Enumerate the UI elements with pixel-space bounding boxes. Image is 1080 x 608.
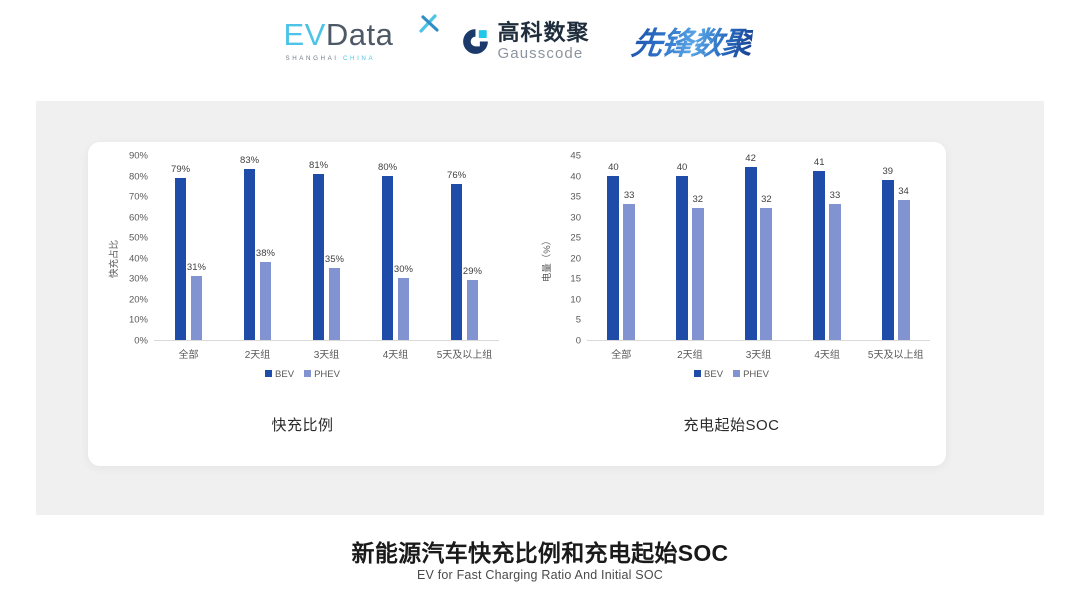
y-tick-label: 50% xyxy=(129,233,148,244)
y-tick-label: 30% xyxy=(129,274,148,285)
y-axis-ticks: 051015202530354045 xyxy=(547,156,581,341)
bar-value-label: 38% xyxy=(256,248,275,259)
bar-group: 76%29%5天及以上组 xyxy=(430,155,499,340)
bar-bev xyxy=(313,174,324,341)
x-axis-label: 4天组 xyxy=(383,346,409,361)
y-tick-label: 15 xyxy=(570,274,581,285)
legend-swatch-bev xyxy=(265,370,272,377)
gausscode-en-name: Gausscode xyxy=(498,46,590,61)
bar-bev xyxy=(244,169,255,340)
charts-card: 快充占比0%10%20%30%40%50%60%70%80%90%79%31%全… xyxy=(88,142,946,466)
bar-bev xyxy=(676,176,688,340)
bar-value-label: 41 xyxy=(814,157,825,168)
page-subtitle: EV for Fast Charging Ratio And Initial S… xyxy=(0,568,1080,582)
x-cross-icon xyxy=(419,14,439,34)
y-tick-label: 0% xyxy=(134,336,148,347)
evdata-tagline-city: SHANGHAI xyxy=(286,55,339,62)
bar-bev xyxy=(813,171,825,340)
bar-value-label: 34 xyxy=(898,186,909,197)
chart-legend: BEVPHEV xyxy=(88,369,517,380)
y-tick-label: 90% xyxy=(129,151,148,162)
bar-group: 40322天组 xyxy=(656,155,725,340)
legend-swatch-phev xyxy=(304,370,311,377)
bar-group: 39345天及以上组 xyxy=(861,155,930,340)
bar-group: 79%31%全部 xyxy=(154,155,223,340)
bar-phev xyxy=(191,276,202,340)
bar-phev xyxy=(329,268,340,340)
legend-item-phev[interactable]: PHEV xyxy=(304,369,340,380)
bar-bev xyxy=(175,178,186,340)
slide-root: EVData SHANGHAI CHINA 高科数聚 Gausscode 先锋数… xyxy=(0,0,1080,608)
y-tick-label: 30 xyxy=(570,212,581,223)
bar-value-label: 39 xyxy=(883,166,894,177)
y-tick-label: 10% xyxy=(129,315,148,326)
legend-swatch-phev xyxy=(733,370,740,377)
bar-phev xyxy=(467,280,478,340)
y-tick-label: 10 xyxy=(570,294,581,305)
x-axis-label: 3天组 xyxy=(746,346,772,361)
x-axis-label: 5天及以上组 xyxy=(437,346,493,361)
legend-item-bev[interactable]: BEV xyxy=(694,369,723,380)
chart-caption: 充电起始SOC xyxy=(517,414,946,435)
plot-wrapper: 快充占比0%10%20%30%40%50%60%70%80%90%79%31%全… xyxy=(88,156,517,361)
bar-value-label: 35% xyxy=(325,254,344,265)
gausscode-text: 高科数聚 Gausscode xyxy=(498,22,590,61)
plot-area: 4033全部40322天组42323天组41334天组39345天及以上组 xyxy=(587,156,930,341)
y-tick-label: 45 xyxy=(570,151,581,162)
evdata-tagline-country: CHINA xyxy=(343,55,375,62)
y-tick-label: 70% xyxy=(129,192,148,203)
bar-value-label: 83% xyxy=(240,155,259,166)
x-axis-label: 4天组 xyxy=(814,346,840,361)
chart-caption: 快充比例 xyxy=(88,414,517,435)
bar-value-label: 32 xyxy=(692,194,703,205)
evdata-ev-text: EV xyxy=(284,17,326,52)
bar-phev xyxy=(623,204,635,340)
bar-value-label: 29% xyxy=(463,266,482,277)
xianfeng-logo: 先锋数聚 xyxy=(632,18,797,62)
gausscode-cn-name: 高科数聚 xyxy=(498,22,590,44)
bar-value-label: 42 xyxy=(745,153,756,164)
bar-value-label: 80% xyxy=(378,162,397,173)
bar-value-label: 79% xyxy=(171,164,190,175)
y-tick-label: 25 xyxy=(570,233,581,244)
bar-group: 4033全部 xyxy=(587,155,656,340)
bar-value-label: 31% xyxy=(187,262,206,273)
y-tick-label: 35 xyxy=(570,192,581,203)
y-tick-label: 80% xyxy=(129,171,148,182)
y-tick-label: 20 xyxy=(570,253,581,264)
y-tick-label: 5 xyxy=(576,315,581,326)
y-tick-label: 60% xyxy=(129,212,148,223)
bar-phev xyxy=(398,278,409,340)
evdata-wordmark: EVData xyxy=(284,18,394,52)
bar-bev xyxy=(451,184,462,340)
bar-group: 41334天组 xyxy=(793,155,862,340)
y-tick-label: 20% xyxy=(129,294,148,305)
bar-group: 42323天组 xyxy=(724,155,793,340)
bar-bev xyxy=(882,180,894,340)
y-tick-label: 0 xyxy=(576,336,581,347)
bar-bev xyxy=(382,176,393,340)
gausscode-logo: 高科数聚 Gausscode xyxy=(460,18,608,64)
bar-phev xyxy=(260,262,271,340)
chart-legend: BEVPHEV xyxy=(517,369,946,380)
evdata-data-text: Data xyxy=(326,17,393,52)
x-axis-label: 3天组 xyxy=(314,346,340,361)
evdata-tagline: SHANGHAI CHINA xyxy=(286,55,376,62)
bar-value-label: 76% xyxy=(447,170,466,181)
bar-phev xyxy=(760,208,772,340)
evdata-logo: EVData SHANGHAI CHINA xyxy=(284,18,436,68)
bar-group: 83%38%2天组 xyxy=(223,155,292,340)
plot-wrapper: 电量（%）0510152025303540454033全部40322天组4232… xyxy=(517,156,946,361)
chart-1: 快充占比0%10%20%30%40%50%60%70%80%90%79%31%全… xyxy=(88,142,517,466)
xianfeng-wordmark: 先锋数聚 xyxy=(629,18,755,63)
legend-label: BEV xyxy=(275,369,294,380)
y-tick-label: 40% xyxy=(129,253,148,264)
bar-bev xyxy=(745,167,757,340)
bar-phev xyxy=(692,208,704,340)
bar-group: 80%30%4天组 xyxy=(361,155,430,340)
x-axis-label: 2天组 xyxy=(245,346,271,361)
x-axis-label: 2天组 xyxy=(677,346,703,361)
legend-label: PHEV xyxy=(743,369,769,380)
logo-bar: EVData SHANGHAI CHINA 高科数聚 Gausscode 先锋数… xyxy=(0,18,1080,80)
x-axis-label: 5天及以上组 xyxy=(868,346,924,361)
y-axis-ticks: 0%10%20%30%40%50%60%70%80%90% xyxy=(114,156,148,341)
legend-item-phev[interactable]: PHEV xyxy=(733,369,769,380)
bar-value-label: 30% xyxy=(394,264,413,275)
g-circle-icon xyxy=(460,26,491,57)
bar-value-label: 33 xyxy=(624,190,635,201)
legend-label: PHEV xyxy=(314,369,340,380)
plot-area: 79%31%全部83%38%2天组81%35%3天组80%30%4天组76%29… xyxy=(154,156,499,341)
bar-value-label: 40 xyxy=(608,162,619,173)
y-tick-label: 40 xyxy=(570,171,581,182)
bar-phev xyxy=(898,200,910,340)
x-axis-label: 全部 xyxy=(179,346,199,361)
legend-label: BEV xyxy=(704,369,723,380)
legend-item-bev[interactable]: BEV xyxy=(265,369,294,380)
charts-row: 快充占比0%10%20%30%40%50%60%70%80%90%79%31%全… xyxy=(88,142,946,466)
x-axis-label: 全部 xyxy=(611,346,631,361)
bar-value-label: 33 xyxy=(830,190,841,201)
bar-phev xyxy=(829,204,841,340)
bar-value-label: 32 xyxy=(761,194,772,205)
bar-bev xyxy=(607,176,619,340)
bar-value-label: 81% xyxy=(309,160,328,171)
chart-2: 电量（%）0510152025303540454033全部40322天组4232… xyxy=(517,142,946,466)
bar-value-label: 40 xyxy=(677,162,688,173)
page-title: 新能源汽车快充比例和充电起始SOC xyxy=(0,534,1080,568)
legend-swatch-bev xyxy=(694,370,701,377)
bar-group: 81%35%3天组 xyxy=(292,155,361,340)
